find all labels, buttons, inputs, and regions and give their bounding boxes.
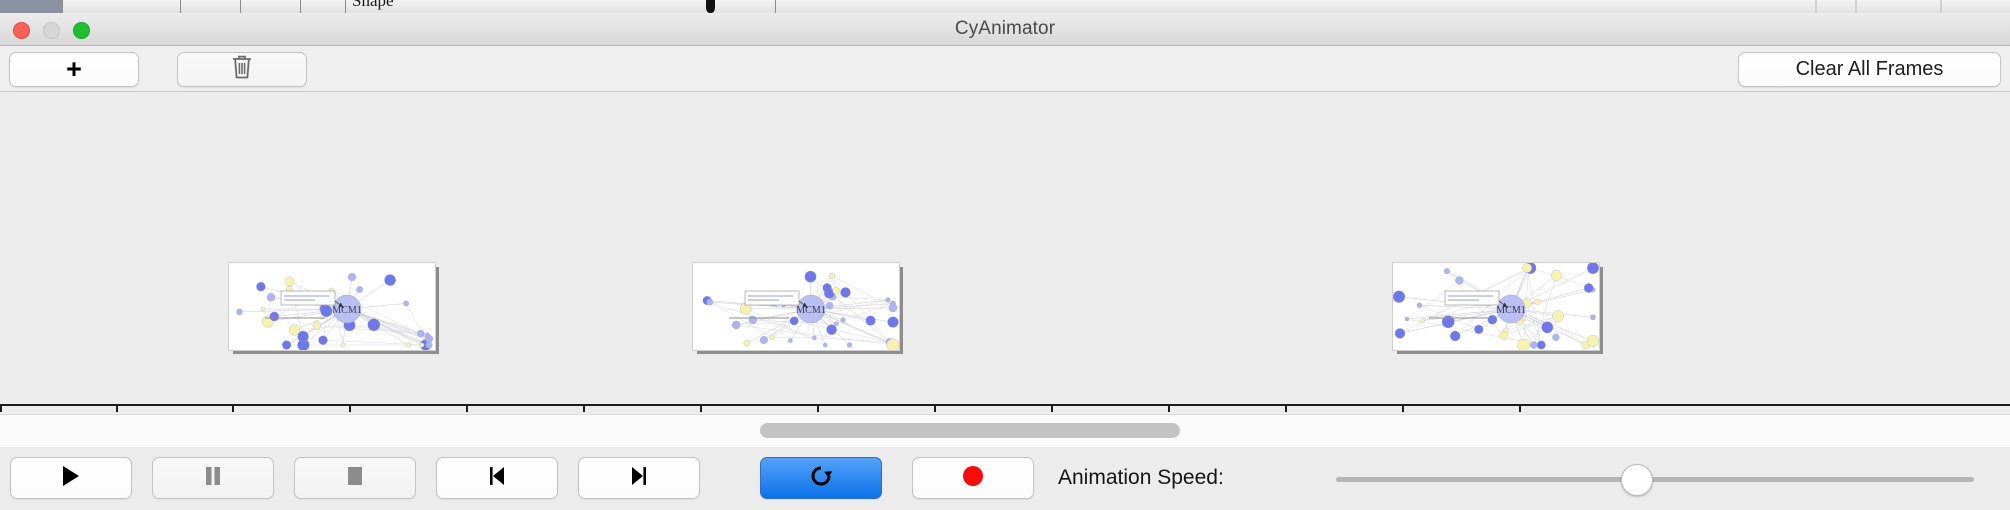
stop-button[interactable] [294, 457, 416, 499]
window-title: CyAnimator [0, 13, 2010, 45]
background-divider [300, 0, 301, 13]
skip-previous-button[interactable] [436, 457, 558, 499]
timeline-panel[interactable]: MCM1 MCM1 MCM1 2131415161718 Seconds [0, 92, 2010, 412]
title-bar[interactable]: CyAnimator [0, 13, 2010, 46]
play-button[interactable] [10, 457, 132, 499]
svg-text:MCM1: MCM1 [332, 305, 361, 316]
ruler-tick-major [1168, 406, 1170, 412]
stop-icon [344, 464, 366, 493]
pause-icon [202, 464, 224, 493]
add-frame-button[interactable]: + [9, 52, 139, 87]
skip-previous-icon [486, 464, 508, 493]
slider-track[interactable] [1336, 477, 1974, 482]
slider-thumb[interactable] [1621, 464, 1653, 496]
background-divider [345, 0, 346, 13]
toolbar: + Clear All Frames [0, 46, 2010, 92]
ruler-tick-minor [116, 406, 118, 412]
frame-thumbnail[interactable]: MCM1 [1392, 262, 1600, 351]
background-divider [240, 0, 241, 13]
svg-text:MCM1: MCM1 [1496, 305, 1525, 316]
record-button[interactable] [912, 457, 1034, 499]
ruler-tick-major [0, 406, 2, 412]
timeline-ruler: 2131415161718 Seconds [0, 404, 2010, 412]
pause-button[interactable] [152, 457, 274, 499]
background-divider [1940, 0, 1942, 13]
skip-next-button[interactable] [578, 457, 700, 499]
background-divider [1815, 0, 1817, 13]
timeline-frame[interactable]: MCM1 [1392, 262, 1603, 354]
svg-text:MCM1: MCM1 [796, 305, 825, 316]
trash-icon [230, 53, 254, 86]
horizontal-scrollbar[interactable] [0, 414, 2010, 448]
ruler-tick-major [232, 406, 234, 412]
ruler-tick-minor [583, 406, 585, 412]
ruler-tick-major [934, 406, 936, 412]
ruler-tick-major [700, 406, 702, 412]
ruler-tick-minor [817, 406, 819, 412]
timeline-frame[interactable]: MCM1 [692, 262, 903, 354]
clear-all-frames-button[interactable]: Clear All Frames [1738, 52, 2001, 87]
cyanimator-window: Shape CyAnimator + [0, 0, 2010, 510]
background-window-strip: Shape [0, 0, 2010, 14]
ruler-tick-minor [349, 406, 351, 412]
loop-icon [808, 463, 834, 494]
animation-speed-slider[interactable] [1336, 477, 1974, 482]
clear-all-frames-label: Clear All Frames [1796, 58, 1944, 81]
ruler-axis [0, 404, 2010, 406]
record-icon [961, 464, 985, 493]
scrollbar-thumb[interactable] [760, 423, 1180, 438]
loop-button[interactable] [760, 457, 882, 499]
frame-thumbnail[interactable]: MCM1 [228, 262, 436, 351]
delete-frame-button[interactable] [177, 52, 307, 87]
background-divider [62, 0, 63, 13]
background-shape-label: Shape [352, 0, 394, 11]
skip-next-icon [628, 464, 650, 493]
ruler-tick-minor [1051, 406, 1053, 412]
frame-thumbnail[interactable]: MCM1 [692, 262, 900, 351]
transport-bar: Animation Speed: [0, 447, 2010, 510]
background-divider [180, 0, 181, 13]
background-glyph [706, 0, 715, 13]
ruler-tick-minor [1519, 406, 1521, 412]
timeline-frame[interactable]: MCM1 [228, 262, 439, 354]
background-divider [1855, 0, 1857, 13]
ruler-tick-minor [1285, 406, 1287, 412]
animation-speed-label: Animation Speed: [1058, 457, 1224, 499]
background-tab [0, 0, 62, 13]
ruler-tick-major [1402, 406, 1404, 412]
background-divider [775, 0, 776, 13]
ruler-tick-major [466, 406, 468, 412]
play-icon [60, 464, 82, 493]
